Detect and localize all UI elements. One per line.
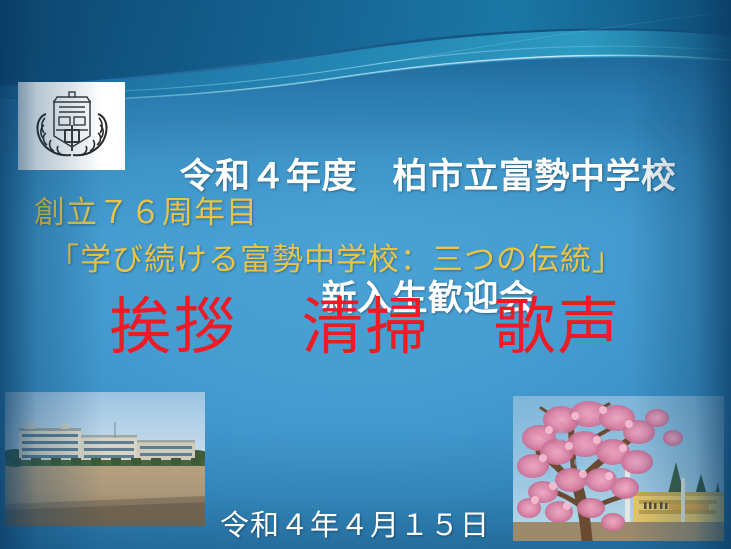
- presentation-slide: 令和４年度 柏市立富勢中学校 新入生歓迎会 創立７６周年目 「学び続ける富勢中学…: [0, 0, 731, 549]
- slide-edge-vignette: [0, 0, 731, 549]
